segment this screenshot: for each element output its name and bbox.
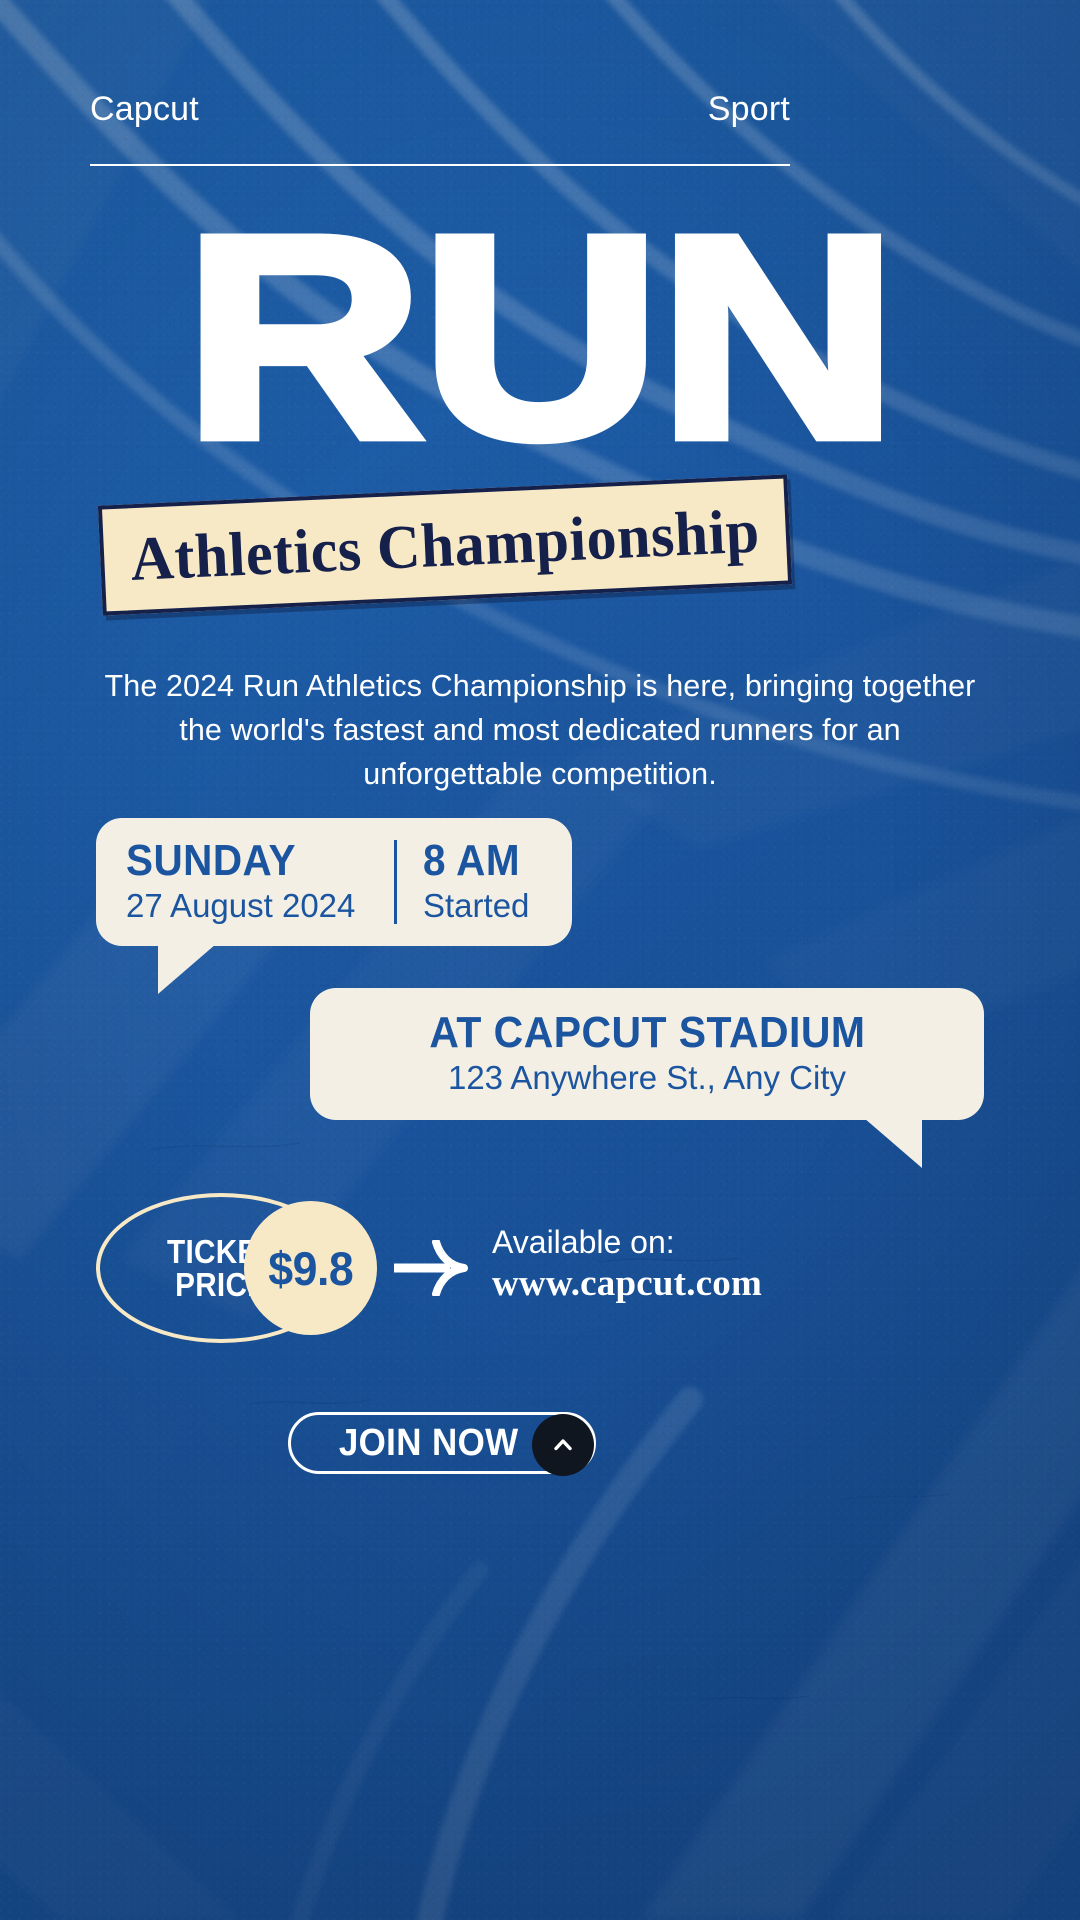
available-label: Available on: <box>492 1222 762 1262</box>
page-title: RUN <box>184 196 896 479</box>
venue-column: AT CAPCUT STADIUM 123 Anywhere St., Any … <box>413 1010 882 1098</box>
date-time-card: SUNDAY 27 August 2024 8 AM Started <box>96 818 572 946</box>
availability-block: Available on: www.capcut.com <box>492 1222 762 1306</box>
subtitle-text: Athletics Championship <box>129 495 761 595</box>
event-date: 27 August 2024 <box>126 887 394 926</box>
event-description: The 2024 Run Athletics Championship is h… <box>88 665 992 797</box>
venue-card: AT CAPCUT STADIUM 123 Anywhere St., Any … <box>310 988 984 1120</box>
event-time: 8 AM <box>423 838 521 884</box>
arrow-right-icon <box>392 1240 478 1296</box>
event-time-status: Started <box>423 887 529 926</box>
poster-header: Capcut Sport <box>90 92 790 126</box>
venue-card-tail <box>864 1118 922 1168</box>
hero-title-wrap: RUN <box>0 196 1080 463</box>
price-ellipse: $9.8 <box>244 1201 377 1335</box>
event-poster: Capcut Sport RUN Athletics Championship … <box>0 0 1080 1920</box>
chevron-up-icon <box>548 1430 578 1460</box>
category-label: Sport <box>708 92 790 126</box>
website-url[interactable]: www.capcut.com <box>492 1262 762 1306</box>
brand-name: Capcut <box>90 92 199 126</box>
time-column: 8 AM Started <box>397 838 529 926</box>
venue-address: 123 Anywhere St., Any City <box>413 1059 882 1098</box>
event-day: SUNDAY <box>126 838 373 884</box>
join-now-label: JOIN NOW <box>339 1422 519 1465</box>
date-column: SUNDAY 27 August 2024 <box>126 838 394 926</box>
venue-name: AT CAPCUT STADIUM <box>429 1010 865 1056</box>
date-card-tail <box>158 944 216 994</box>
ticket-price: $9.8 <box>268 1241 353 1296</box>
join-now-button[interactable]: JOIN NOW <box>288 1412 596 1474</box>
join-now-icon-circle[interactable] <box>532 1414 594 1476</box>
header-divider <box>90 164 790 166</box>
ticket-price-badge: TICKET PRICE $9.8 <box>96 1193 386 1343</box>
